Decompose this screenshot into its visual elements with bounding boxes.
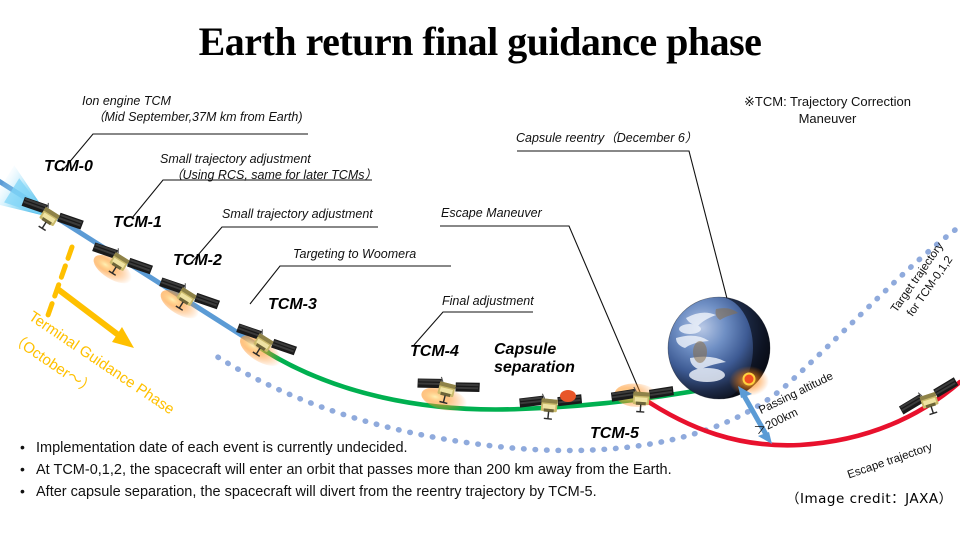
callout-line2: （Using RCS, same for later TCMs） xyxy=(160,168,377,184)
callout-targeting-woomera: Targeting to Woomera xyxy=(293,247,416,263)
callout-line1: Small trajectory adjustment xyxy=(222,207,373,221)
image-credit: （Image credit：JAXA） xyxy=(786,487,953,507)
tcm-note-line2: Maneuver xyxy=(799,111,857,126)
bullet-list: Implementation date of each event is cur… xyxy=(14,440,734,506)
label-tcm-0: TCM-0 xyxy=(44,158,93,176)
spacecraft-tcm-0 xyxy=(0,165,91,250)
label-tcm-1: TCM-1 xyxy=(113,214,162,232)
callout-line1: Ion engine TCM xyxy=(82,94,171,108)
callout-line1: Escape Maneuver xyxy=(441,206,542,220)
capsule-reentry-glow xyxy=(729,366,769,396)
callout-final-adjustment: Final adjustment xyxy=(442,294,534,310)
label-tcm-4: TCM-4 xyxy=(410,343,459,361)
callout-line1: Small trajectory adjustment xyxy=(160,152,311,166)
callout-capsule-reentry: Capsule reentry（December 6） xyxy=(516,131,697,147)
callout-line1: Final adjustment xyxy=(442,294,534,308)
label-capsule-separation: Capsule separation xyxy=(494,341,575,377)
callout-escape-maneuver: Escape Maneuver xyxy=(441,206,542,222)
callout-small-trajectory-1: Small trajectory adjustment （Using RCS, … xyxy=(160,152,377,183)
label-tcm-2: TCM-2 xyxy=(173,252,222,270)
target-trajectory-path xyxy=(210,230,955,450)
phase-dashed-line xyxy=(47,247,72,318)
callout-line2: （Mid September,37M km from Earth) xyxy=(82,110,302,126)
tcm-note-line1: TCM: Trajectory Correction xyxy=(755,94,911,109)
page-title: Earth return final guidance phase xyxy=(0,18,960,65)
callout-line1: Targeting to Woomera xyxy=(293,247,416,261)
capsule-dot xyxy=(560,390,576,402)
callout-line1: Capsule reentry（December 6） xyxy=(516,131,697,145)
bullet-item: At TCM-0,1,2, the spacecraft will enter … xyxy=(14,462,734,478)
callout-ion-engine-tcm: Ion engine TCM （Mid September,37M km fro… xyxy=(82,94,302,125)
reference-mark-icon: ※ xyxy=(744,94,755,109)
capsule-separation-line1: Capsule xyxy=(494,341,556,358)
bullet-item: Implementation date of each event is cur… xyxy=(14,440,734,456)
tcm-definition-note: ※TCM: Trajectory Correction Maneuver xyxy=(744,94,911,128)
spacecraft-tcm-2 xyxy=(150,268,222,330)
slide-canvas: Earth return final guidance phase ※TCM: … xyxy=(0,0,960,540)
callout-small-trajectory-2: Small trajectory adjustment xyxy=(222,207,373,223)
capsule-separation-line2: separation xyxy=(494,359,575,376)
label-tcm-3: TCM-3 xyxy=(268,296,317,314)
bullet-item: After capsule separation, the spacecraft… xyxy=(14,484,734,500)
